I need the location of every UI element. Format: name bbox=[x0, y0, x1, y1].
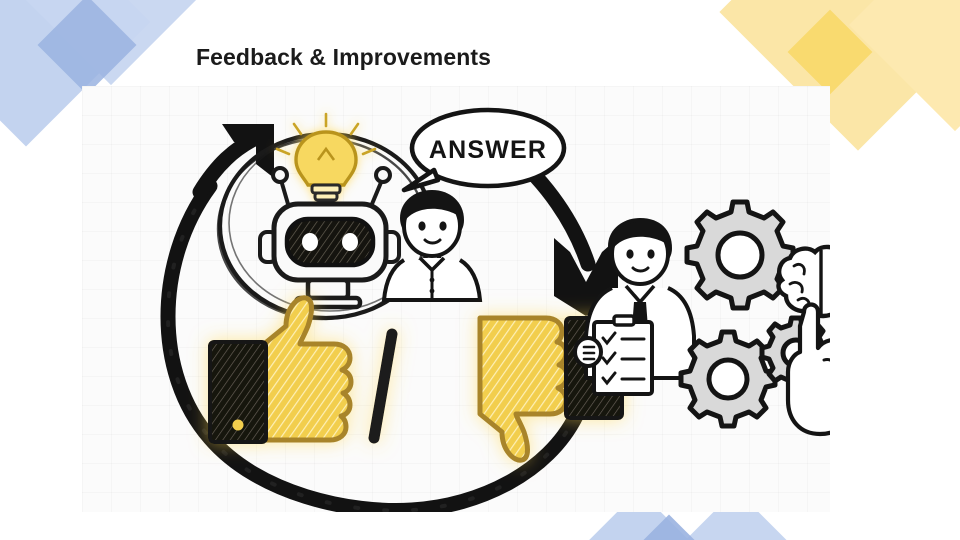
analyst-person bbox=[575, 218, 694, 394]
speech-bubble: ANSWER bbox=[404, 110, 564, 190]
blue-diamond-medium bbox=[5, 0, 217, 85]
page-title: Feedback & Improvements bbox=[196, 44, 491, 71]
illustration-panel: ANSWER bbox=[82, 86, 830, 512]
slide-root: Feedback & Improvements bbox=[0, 0, 960, 540]
lightbulb-icon bbox=[277, 114, 375, 207]
yellow-diamond-small bbox=[788, 10, 873, 95]
speech-bubble-text: ANSWER bbox=[429, 136, 547, 164]
robot-head bbox=[274, 204, 386, 280]
blue-diamond-small bbox=[38, 0, 137, 94]
feedback-loop-diagram: ANSWER bbox=[82, 86, 830, 512]
yellow-diamond-medium bbox=[849, 0, 960, 131]
blue-diamond-small bbox=[636, 514, 701, 540]
separator-slash bbox=[374, 334, 392, 438]
